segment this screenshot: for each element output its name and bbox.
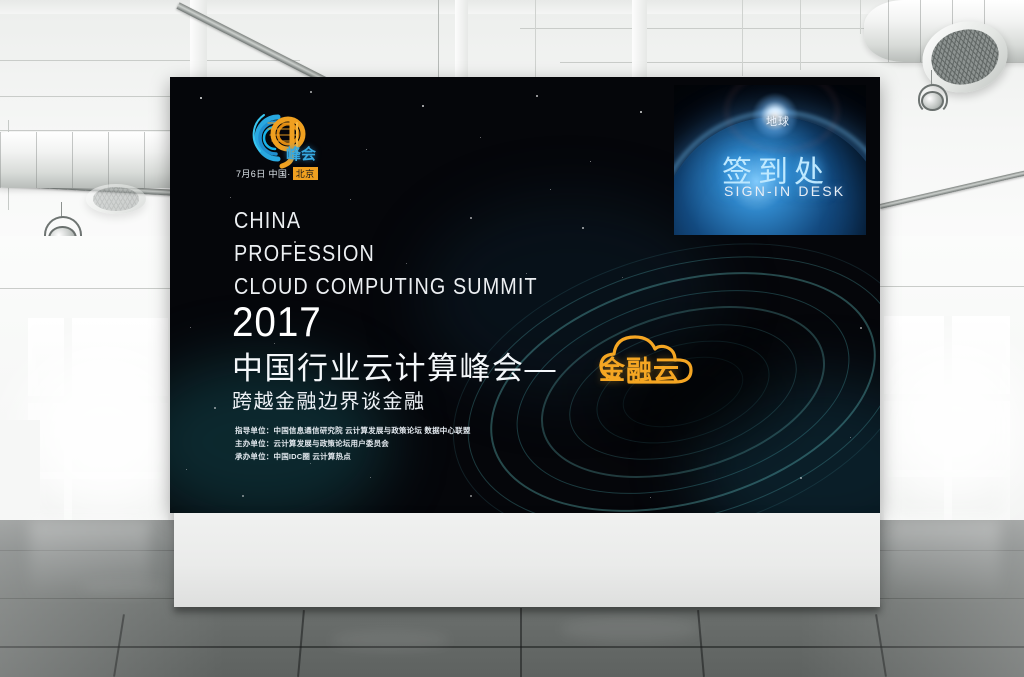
exhibition-hall-scene: 地球 签到处 SIGN-IN DESK 峰会 7月6日 中 <box>0 0 1024 677</box>
ceiling-rail <box>879 155 1024 209</box>
logo-date-text: 7月6日 中国· <box>236 169 291 179</box>
organizer-line-3: 承办单位：中国IDC圈 云计算热点 <box>235 451 351 462</box>
finance-cloud-label: 金融云 <box>599 350 680 387</box>
event-year: 2017 <box>232 298 322 346</box>
sign-in-desk-panel: 地球 签到处 SIGN-IN DESK <box>674 85 866 235</box>
english-title-line-1: CHINA <box>234 207 301 234</box>
event-logo: 峰会 7月6日 中国·北京 <box>234 107 342 185</box>
event-banner: 地球 签到处 SIGN-IN DESK 峰会 7月6日 中 <box>170 77 880 513</box>
chinese-subtitle: 跨越金融边界谈金融 <box>232 385 426 414</box>
finance-cloud-logo: 金融云 <box>595 328 705 390</box>
organizer-line-1: 指导单位：中国信息通信研究院 云计算发展与政策论坛 数据中心联盟 <box>235 425 471 436</box>
ceiling-beam <box>632 0 647 82</box>
air-diffuser <box>86 184 146 214</box>
logo-date-line: 7月6日 中国·北京 <box>236 167 318 180</box>
track-spotlight <box>918 84 944 110</box>
sign-in-title-en: SIGN-IN DESK <box>724 183 845 199</box>
organizer-line-2: 主办单位：云计算发展与政策论坛用户委员会 <box>235 438 389 449</box>
chinese-title: 中国行业云计算峰会— <box>232 343 557 388</box>
logo-summit-label: 峰会 <box>286 143 316 164</box>
earth-label: 地球 <box>766 113 790 129</box>
banner-base-panel <box>174 513 880 607</box>
logo-city-badge: 北京 <box>293 167 318 180</box>
english-title-line-3: CLOUD COMPUTING SUMMIT <box>234 273 538 300</box>
english-title-line-2: PROFESSION <box>234 240 375 267</box>
